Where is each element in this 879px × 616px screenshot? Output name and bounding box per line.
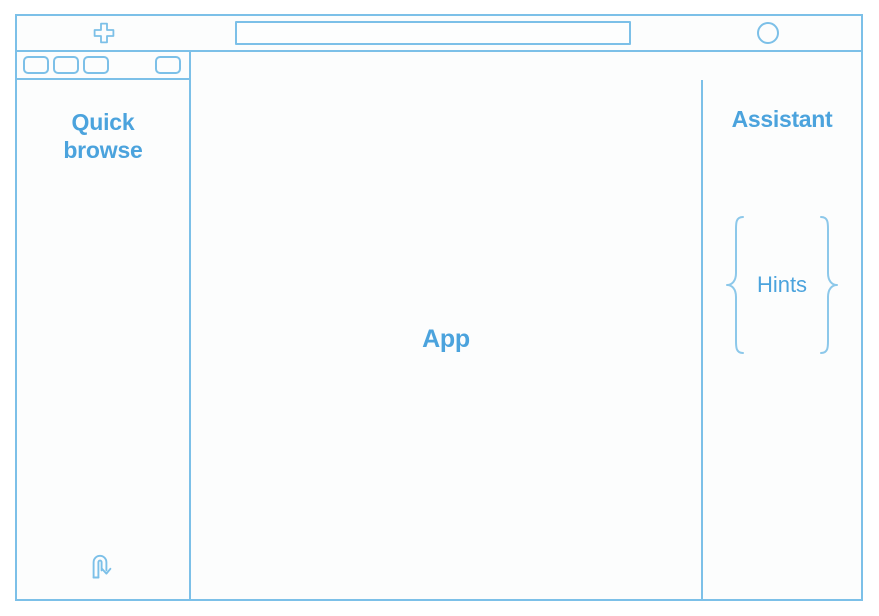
- circle-avatar-icon[interactable]: [757, 22, 779, 44]
- toolbar-right-group: [675, 16, 861, 50]
- browser-wireframe-window: Quick browse App Assistant: [15, 14, 863, 601]
- sidebar-title: Quick browse: [33, 108, 173, 164]
- hints-group: Hints: [703, 210, 861, 360]
- toolbar-left-group: [17, 16, 191, 50]
- quick-browse-sidebar: Quick browse: [17, 80, 191, 599]
- address-bar-input[interactable]: [235, 21, 631, 45]
- tab-item-2[interactable]: [53, 56, 79, 74]
- tab-item-1[interactable]: [23, 56, 49, 74]
- sidebar-title-line-2: browse: [33, 136, 173, 164]
- left-brace-icon: [724, 215, 748, 355]
- assistant-title: Assistant: [732, 106, 833, 133]
- assistant-panel: Assistant Hints: [703, 80, 861, 599]
- browser-toolbar: [17, 16, 861, 52]
- tab-item-overflow[interactable]: [155, 56, 181, 74]
- tab-item-3[interactable]: [83, 56, 109, 74]
- right-brace-icon: [816, 215, 840, 355]
- u-turn-arrow-icon[interactable]: [88, 550, 116, 585]
- content-columns: Quick browse App Assistant: [17, 80, 861, 599]
- app-panel-label: App: [422, 325, 470, 354]
- sidebar-title-line-1: Quick: [33, 108, 173, 136]
- app-panel: App: [191, 80, 703, 599]
- tab-strip: [17, 52, 191, 80]
- toolbar-center-group: [191, 16, 675, 50]
- sidebar-footer: [17, 550, 187, 585]
- hints-label: Hints: [748, 272, 816, 298]
- plus-icon[interactable]: [93, 22, 115, 44]
